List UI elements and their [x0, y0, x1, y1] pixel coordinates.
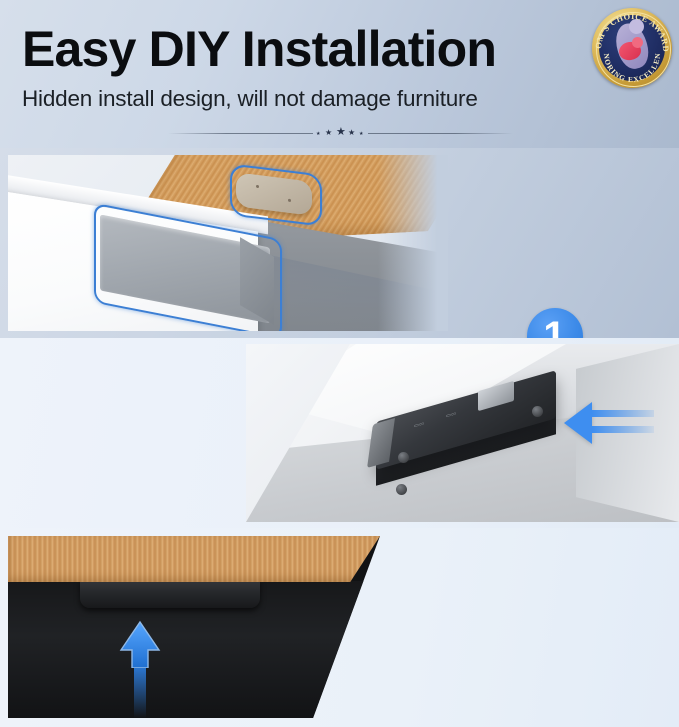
divider-line-left — [168, 133, 313, 134]
divider-stars: ★ ★ ★ ★ ★ — [316, 127, 364, 141]
image-edge-fade — [378, 155, 448, 331]
arrow-tail-line — [592, 410, 654, 417]
step-3-image — [8, 536, 380, 718]
step-1-text-block: 1 Confirm the installation position — [430, 308, 679, 338]
installed-buckle — [80, 580, 260, 608]
lock-screw-hole-icon — [398, 452, 409, 463]
step-1-image — [8, 155, 448, 331]
page-title: Easy DIY Installation — [22, 16, 582, 82]
insert-arrow-icon — [564, 402, 592, 444]
badge-arc-text: MOM'S CHOICE AWARDS HONORING EXCELLENCE — [592, 8, 672, 88]
header-banner: Easy DIY Installation Hidden install des… — [0, 0, 679, 148]
step-1-number-badge: 1 — [527, 308, 583, 338]
step-1-panel: 1 Confirm the installation position — [0, 148, 679, 338]
step-2-image: ▭▭ ▭▭ — [246, 344, 679, 522]
arrow-tail-line — [592, 426, 654, 433]
lock-screw-hole-icon — [532, 406, 543, 417]
star-small-icon: ★ — [325, 129, 332, 137]
cabinet-interior: ▭▭ ▭▭ — [246, 344, 679, 522]
star-small-icon: ★ — [348, 129, 355, 137]
star-dot-icon: ★ — [359, 132, 363, 137]
wood-panel-top — [8, 536, 380, 582]
divider-line-right — [368, 133, 513, 134]
star-dot-icon: ★ — [316, 132, 320, 137]
step-2-panel: 2 Install the lock body ▭▭ ▭▭ — [0, 338, 679, 528]
product-infographic: Easy DIY Installation Hidden install des… — [0, 0, 679, 727]
badge-top-text: MOM'S CHOICE AWARDS — [592, 8, 670, 52]
lock-screw-hole-icon — [396, 484, 407, 495]
push-up-arrow-icon — [118, 620, 162, 668]
step-3-panel: 3 Install the buckle — [0, 528, 679, 727]
moms-choice-awards-badge-icon: MOM'S CHOICE AWARDS HONORING EXCELLENCE — [592, 8, 672, 88]
star-large-icon: ★ — [336, 127, 346, 138]
page-subtitle: Hidden install design, will not damage f… — [22, 86, 622, 112]
star-divider: ★ ★ ★ ★ ★ — [0, 127, 679, 141]
